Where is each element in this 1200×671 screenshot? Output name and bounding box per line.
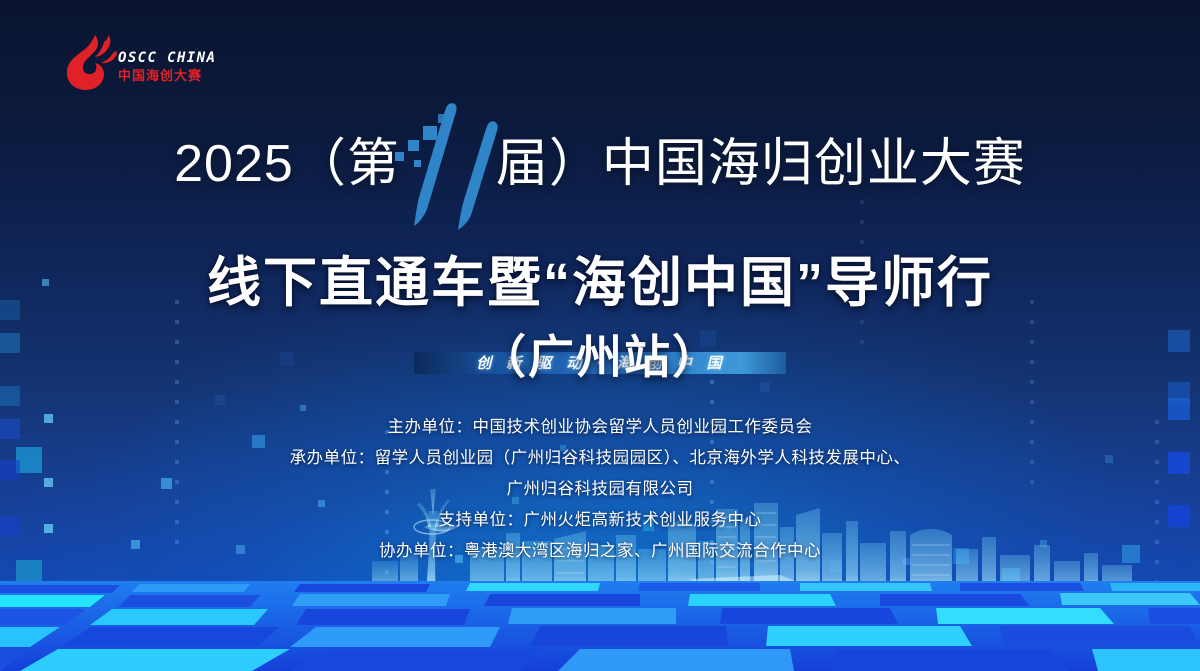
flame-icon bbox=[62, 33, 120, 91]
credit-line-organizer-cont: 广州归谷科技园有限公司 bbox=[0, 474, 1200, 505]
perspective-tile-floor bbox=[0, 581, 1200, 671]
title-suffix: 届）中国海归创业大赛 bbox=[496, 135, 1026, 193]
event-subheadline-city: （广州站） bbox=[0, 330, 1200, 385]
credit-line-support: 支持单位：广州火炬高新技术创业服务中心 bbox=[0, 505, 1200, 536]
decor-square bbox=[215, 395, 225, 405]
decor-square bbox=[300, 405, 306, 411]
organizer-credits: 主办单位：中国技术创业协会留学人员创业园工作委员会 承办单位：留学人员创业园（广… bbox=[0, 412, 1200, 567]
credit-line-organizer: 承办单位：留学人员创业园（广州归谷科技园园区）、北京海外学人科技发展中心、 bbox=[0, 443, 1200, 474]
decor-square bbox=[0, 386, 20, 406]
logo-cn-text: 中国海创大赛 bbox=[118, 69, 216, 82]
logo-en-text: OSCC CHINA bbox=[118, 51, 216, 65]
logo-text-block: OSCC CHINA 中国海创大赛 bbox=[118, 51, 216, 82]
credit-line-coorganizer: 协办单位：粤港澳大湾区海归之家、广州国际交流合作中心 bbox=[0, 536, 1200, 567]
title-block: 2025（第届）中国海归创业大赛 bbox=[0, 138, 1200, 190]
event-headline: 线下直通车暨“海创中国”导师行 bbox=[0, 252, 1200, 314]
title-prefix: 2025（第 bbox=[174, 135, 400, 193]
event-title-line1: 2025（第届）中国海归创业大赛 bbox=[174, 138, 1026, 190]
oscc-china-logo[interactable]: OSCC CHINA 中国海创大赛 bbox=[62, 33, 214, 93]
decor-square bbox=[1168, 382, 1190, 404]
poster-canvas: OSCC CHINA 中国海创大赛 2025（第届）中国海归创业大赛 bbox=[0, 0, 1200, 671]
credit-line-host: 主办单位：中国技术创业协会留学人员创业园工作委员会 bbox=[0, 412, 1200, 443]
